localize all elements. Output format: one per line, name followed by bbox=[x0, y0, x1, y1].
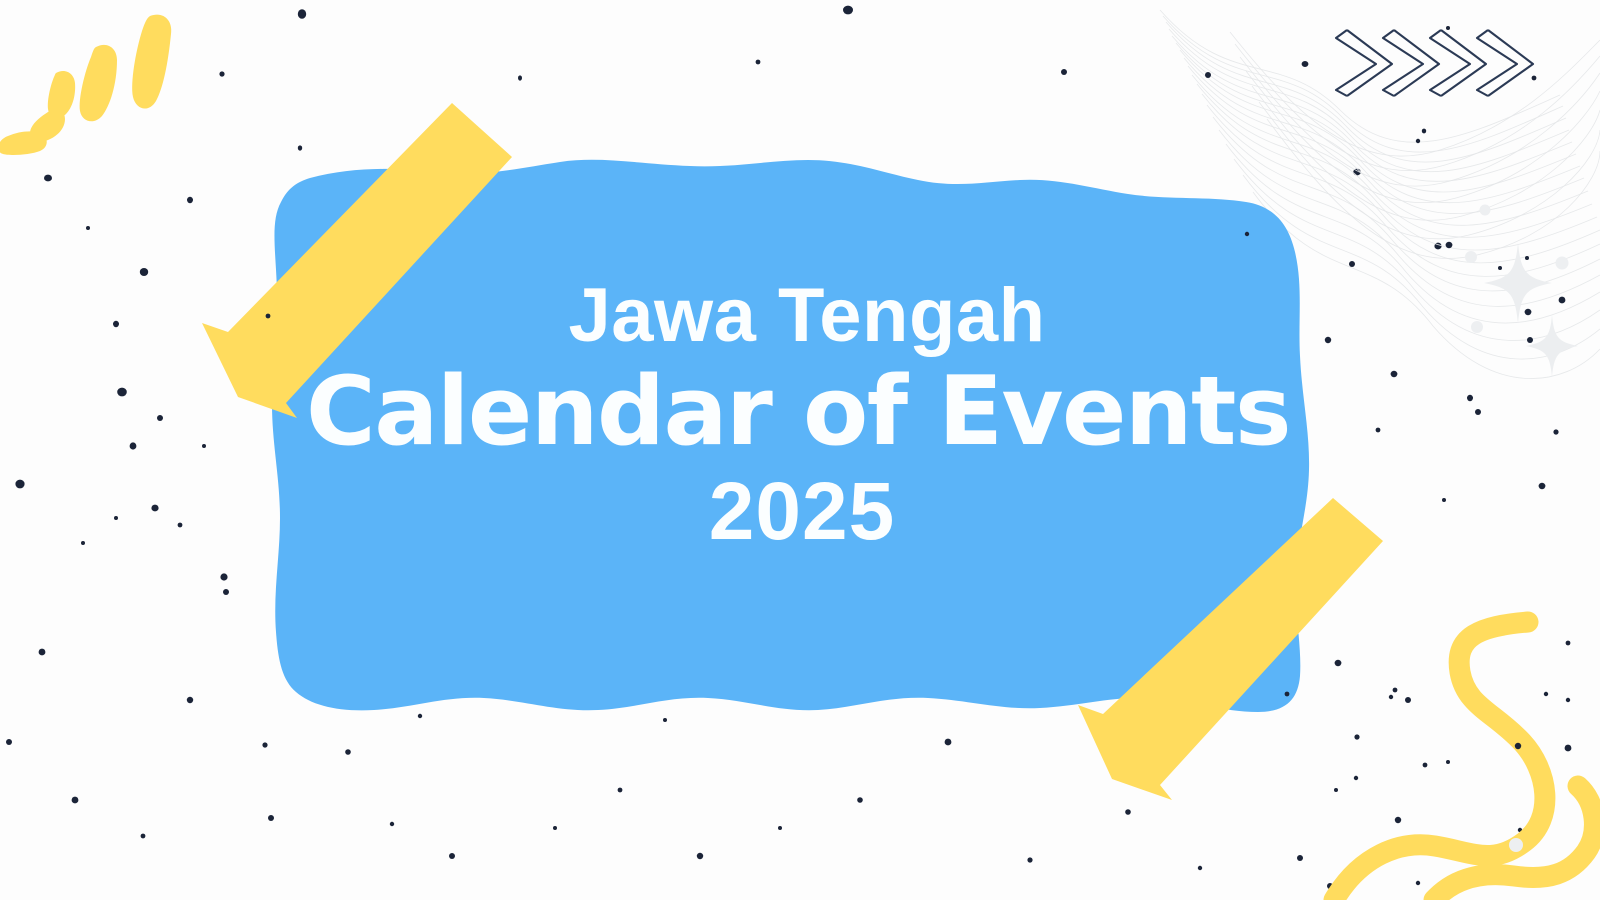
title-slide: Jawa Tengah Calendar of Events 2025 bbox=[0, 0, 1600, 900]
speckle-layer-front bbox=[0, 0, 1600, 900]
